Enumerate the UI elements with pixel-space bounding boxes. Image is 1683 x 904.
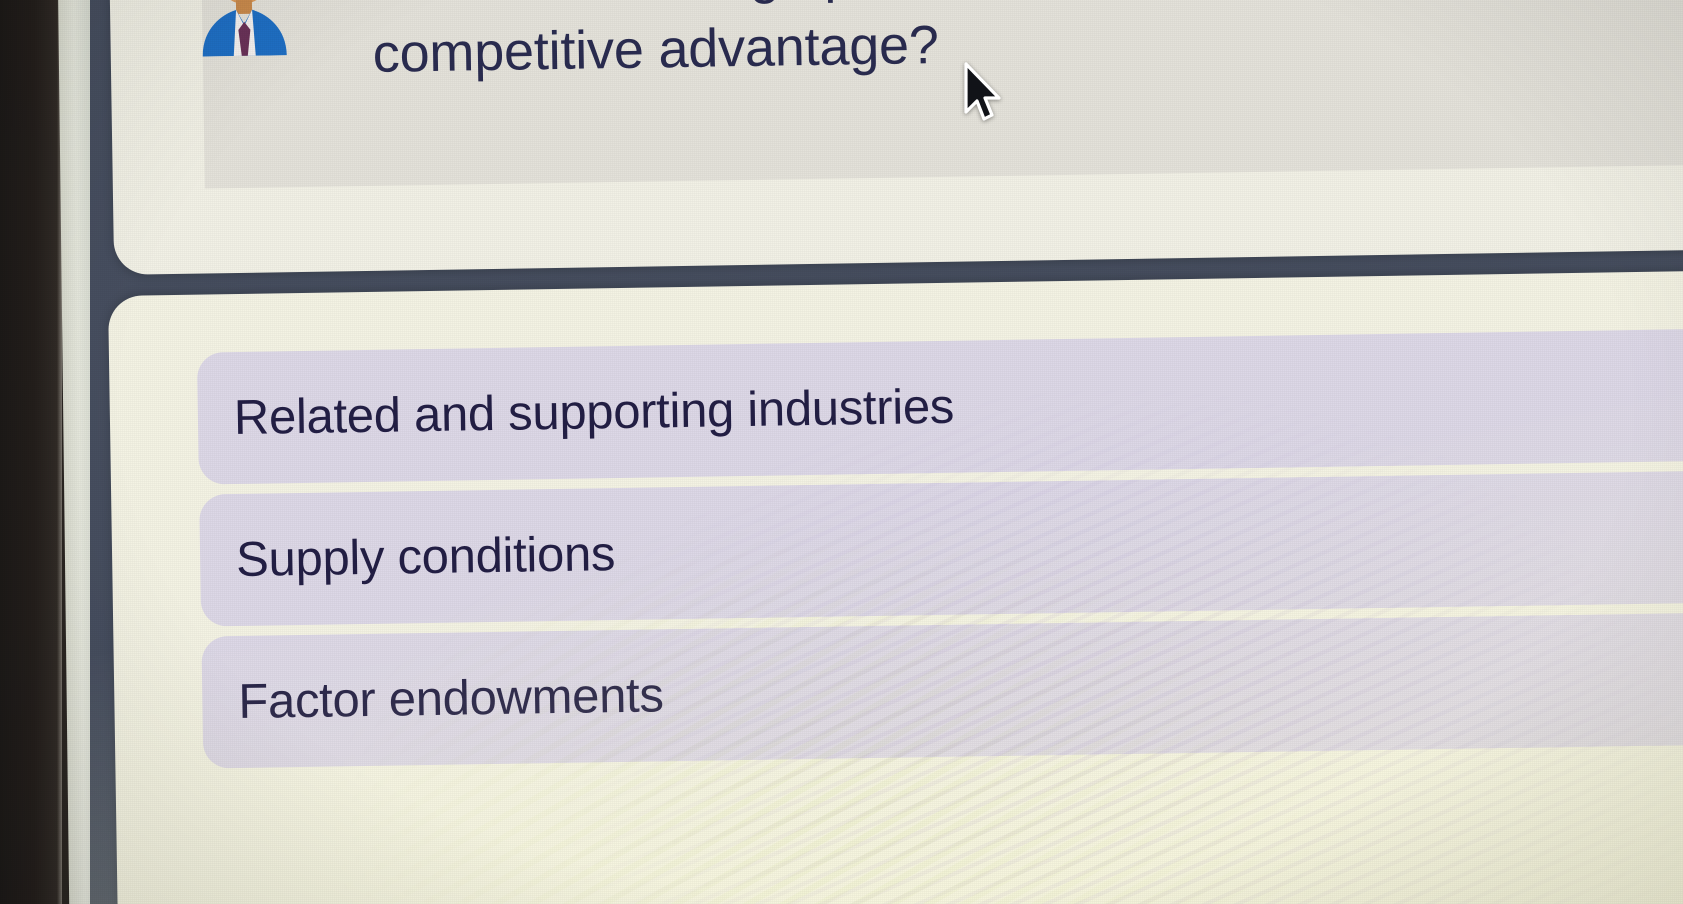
answer-option-label: Related and supporting industries — [233, 379, 954, 446]
screen-photo: Which of these is NOT one of the four at… — [0, 0, 1683, 904]
device-bezel-left — [0, 0, 62, 904]
question-card: Which of these is NOT one of the four at… — [108, 0, 1683, 275]
man-office-worker-emoji-icon — [196, 0, 290, 57]
app-screen: Which of these is NOT one of the four at… — [90, 0, 1683, 904]
answer-option-label: Supply conditions — [236, 526, 616, 588]
answer-option-related-and-supporting-industries[interactable]: Related and supporting industries — [197, 328, 1683, 484]
options-card: Related and supporting industries Supply… — [108, 271, 1683, 904]
answer-option-label: Factor endowments — [238, 667, 664, 730]
answer-option-factor-endowments[interactable]: Factor endowments — [201, 612, 1683, 768]
answer-option-supply-conditions[interactable]: Supply conditions — [199, 470, 1683, 626]
